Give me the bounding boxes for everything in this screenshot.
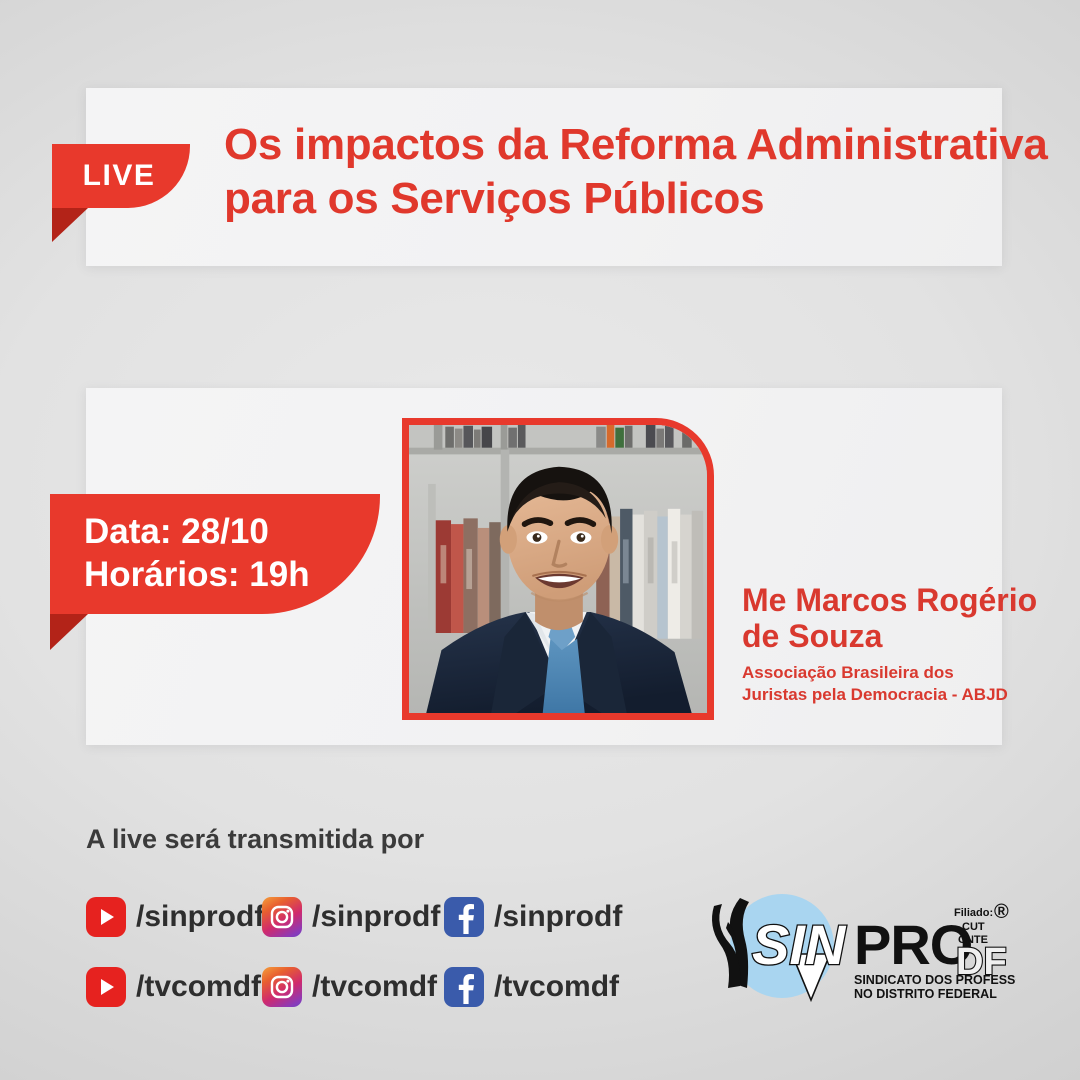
youtube-icon: [86, 897, 126, 937]
logo-affiliate-cut: CUT: [962, 921, 985, 933]
social-link-youtube-tvcomdf[interactable]: /tvcomdf: [86, 967, 262, 1007]
facebook-icon: [444, 967, 484, 1007]
page-title: Os impactos da Reforma Administrativa pa…: [224, 118, 1014, 225]
social-links: /sinprodf /sinprodf /sin: [86, 886, 622, 1018]
live-ribbon-fold: [52, 208, 88, 242]
logo-affiliate-label: Filiado:: [954, 907, 993, 919]
speaker-affiliation-line-1: Associação Brasileira dos: [742, 662, 1062, 684]
title-line-2: para os Serviços Públicos: [224, 172, 1014, 226]
instagram-icon: [262, 897, 302, 937]
live-badge-label: LIVE: [83, 159, 160, 193]
logo-affiliate-cnte: CNTE: [958, 934, 988, 946]
social-handle: /sinprodf: [312, 900, 440, 934]
speaker-name-line-1: Me Marcos Rogério: [742, 582, 1062, 618]
logo-tagline-line-2: NO DISTRITO FEDERAL: [854, 987, 997, 1001]
poster-canvas: LIVE Os impactos da Reforma Administrati…: [0, 0, 1080, 1080]
sinpro-df-logo: SIN PRO DF Filiado: CUT CNTE ® SINDICATO…: [706, 888, 1016, 1010]
logo-word-pro: PRO: [854, 913, 972, 976]
social-handle: /tvcomdf: [136, 970, 261, 1004]
schedule-ribbon-fold: [50, 614, 88, 650]
social-handle: /sinprodf: [494, 900, 622, 934]
social-link-facebook-sinprodf[interactable]: /sinprodf: [444, 897, 622, 937]
speaker-portrait-image: [409, 425, 707, 713]
youtube-icon: [86, 967, 126, 1007]
social-handle: /tvcomdf: [494, 970, 619, 1004]
speaker-details: Me Marcos Rogério de Souza Associação Br…: [742, 582, 1062, 705]
schedule-time: Horários: 19h: [84, 554, 310, 597]
instagram-icon: [262, 967, 302, 1007]
speaker-affiliation-line-2: Juristas pela Democracia - ABJD: [742, 684, 1062, 706]
social-link-youtube-sinprodf[interactable]: /sinprodf: [86, 897, 262, 937]
social-link-facebook-tvcomdf[interactable]: /tvcomdf: [444, 967, 619, 1007]
social-link-instagram-tvcomdf[interactable]: /tvcomdf: [262, 967, 444, 1007]
broadcast-heading: A live será transmitida por: [86, 824, 424, 855]
logo-tagline-line-1: SINDICATO DOS PROFESSORES: [854, 973, 1016, 987]
social-row: /sinprodf /sinprodf /sin: [86, 886, 622, 948]
sinpro-logo-graphic: SIN PRO DF Filiado: CUT CNTE ® SINDICATO…: [706, 888, 1016, 1010]
social-link-instagram-sinprodf[interactable]: /sinprodf: [262, 897, 444, 937]
facebook-icon: [444, 897, 484, 937]
logo-word-sin: SIN: [752, 913, 847, 976]
schedule-date: Data: 28/10: [84, 511, 269, 554]
social-row: /tvcomdf /tvcomdf /tvcom: [86, 956, 622, 1018]
speaker-name-line-2: de Souza: [742, 618, 1062, 654]
speaker-photo: [402, 418, 714, 720]
social-handle: /sinprodf: [136, 900, 264, 934]
social-handle: /tvcomdf: [312, 970, 437, 1004]
logo-registered-mark: ®: [994, 901, 1009, 923]
title-line-1: Os impactos da Reforma Administrativa: [224, 118, 1014, 172]
